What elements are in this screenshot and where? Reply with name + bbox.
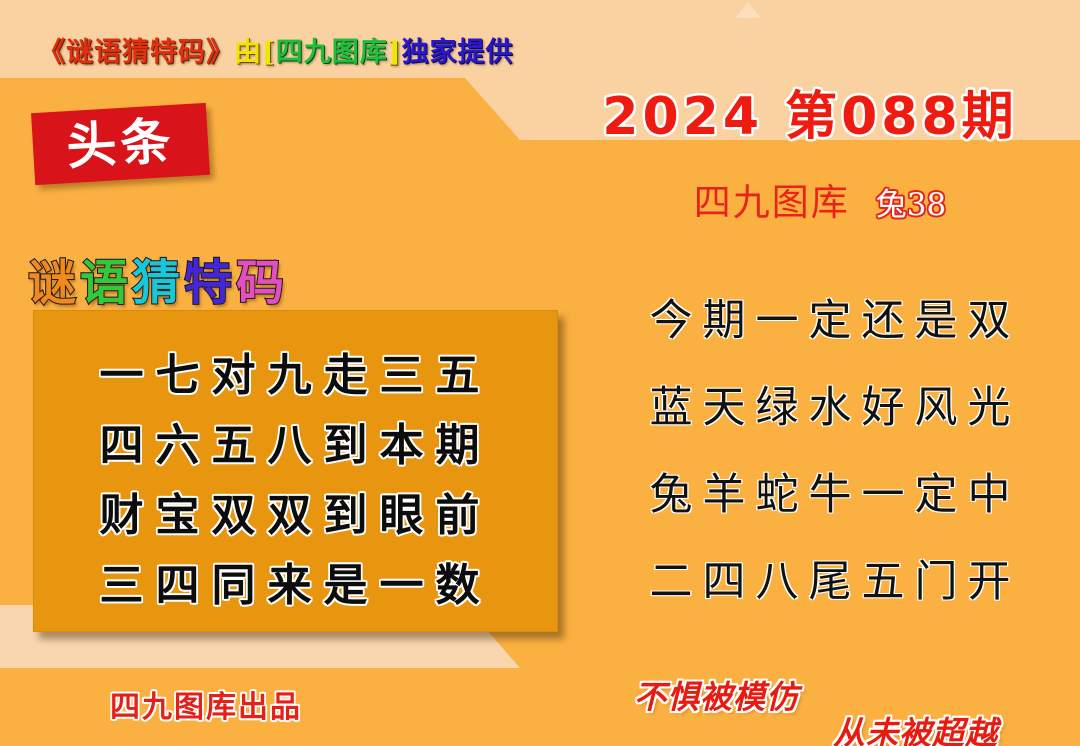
brand-name: 四九图库 xyxy=(694,181,850,224)
page-title: 谜语猜特码 xyxy=(28,243,288,313)
header-segment-brand: 四九图库 xyxy=(276,37,388,68)
right-verse-line-4: 二四八尾五门开 xyxy=(600,547,1070,609)
title-char-1: 谜 xyxy=(28,255,80,311)
title-char-4: 特 xyxy=(184,255,236,311)
header-segment-by: 由 xyxy=(234,37,262,68)
header-segment-title: 《谜语猜特码》 xyxy=(38,37,234,68)
right-verse-block: 今期一定还是双 蓝天绿水好风光 兔羊蛇牛一定中 二四八尾五门开 xyxy=(600,286,1070,634)
title-char-3: 猜 xyxy=(132,255,184,311)
headline-badge: 头条 xyxy=(31,103,210,185)
issue-number: 2024 第088期 xyxy=(560,74,1060,149)
right-verse-line-2: 蓝天绿水好风光 xyxy=(600,373,1070,435)
brand-row: 四九图库兔38 xyxy=(600,172,1040,226)
title-char-2: 语 xyxy=(80,255,132,311)
right-verse-line-3: 兔羊蛇牛一定中 xyxy=(600,460,1070,522)
title-char-5: 码 xyxy=(236,255,288,311)
header-segment-exclusive: 独家提供 xyxy=(402,37,514,68)
header-segment-bracket-open: [ xyxy=(262,37,276,68)
left-verse-line-2: 四六五八到本期 xyxy=(34,409,557,473)
left-verse-box: 一七对九走三五 四六五八到本期 财宝双双到眼前 三四同来是一数 xyxy=(33,310,558,632)
headline-badge-label: 头条 xyxy=(65,116,176,172)
slogan-bottom: 从未被超越 xyxy=(833,708,998,746)
right-verse-line-1: 今期一定还是双 xyxy=(600,286,1070,348)
slogan-top: 不惧被模仿 xyxy=(634,672,799,718)
poster-canvas: 《谜语猜特码》由[四九图库]独家提供 头条 谜语猜特码 一七对九走三五 四六五八… xyxy=(0,0,1080,746)
left-verse-line-1: 一七对九走三五 xyxy=(34,339,557,403)
producer-credit: 四九图库出品 xyxy=(110,682,302,726)
left-verse-line-3: 财宝双双到眼前 xyxy=(34,479,557,543)
header-segment-bracket-close: ] xyxy=(388,37,402,68)
header-credit-line: 《谜语猜特码》由[四九图库]独家提供 xyxy=(38,30,514,69)
left-verse-line-4: 三四同来是一数 xyxy=(34,549,557,613)
zodiac-number: 兔38 xyxy=(876,187,946,223)
